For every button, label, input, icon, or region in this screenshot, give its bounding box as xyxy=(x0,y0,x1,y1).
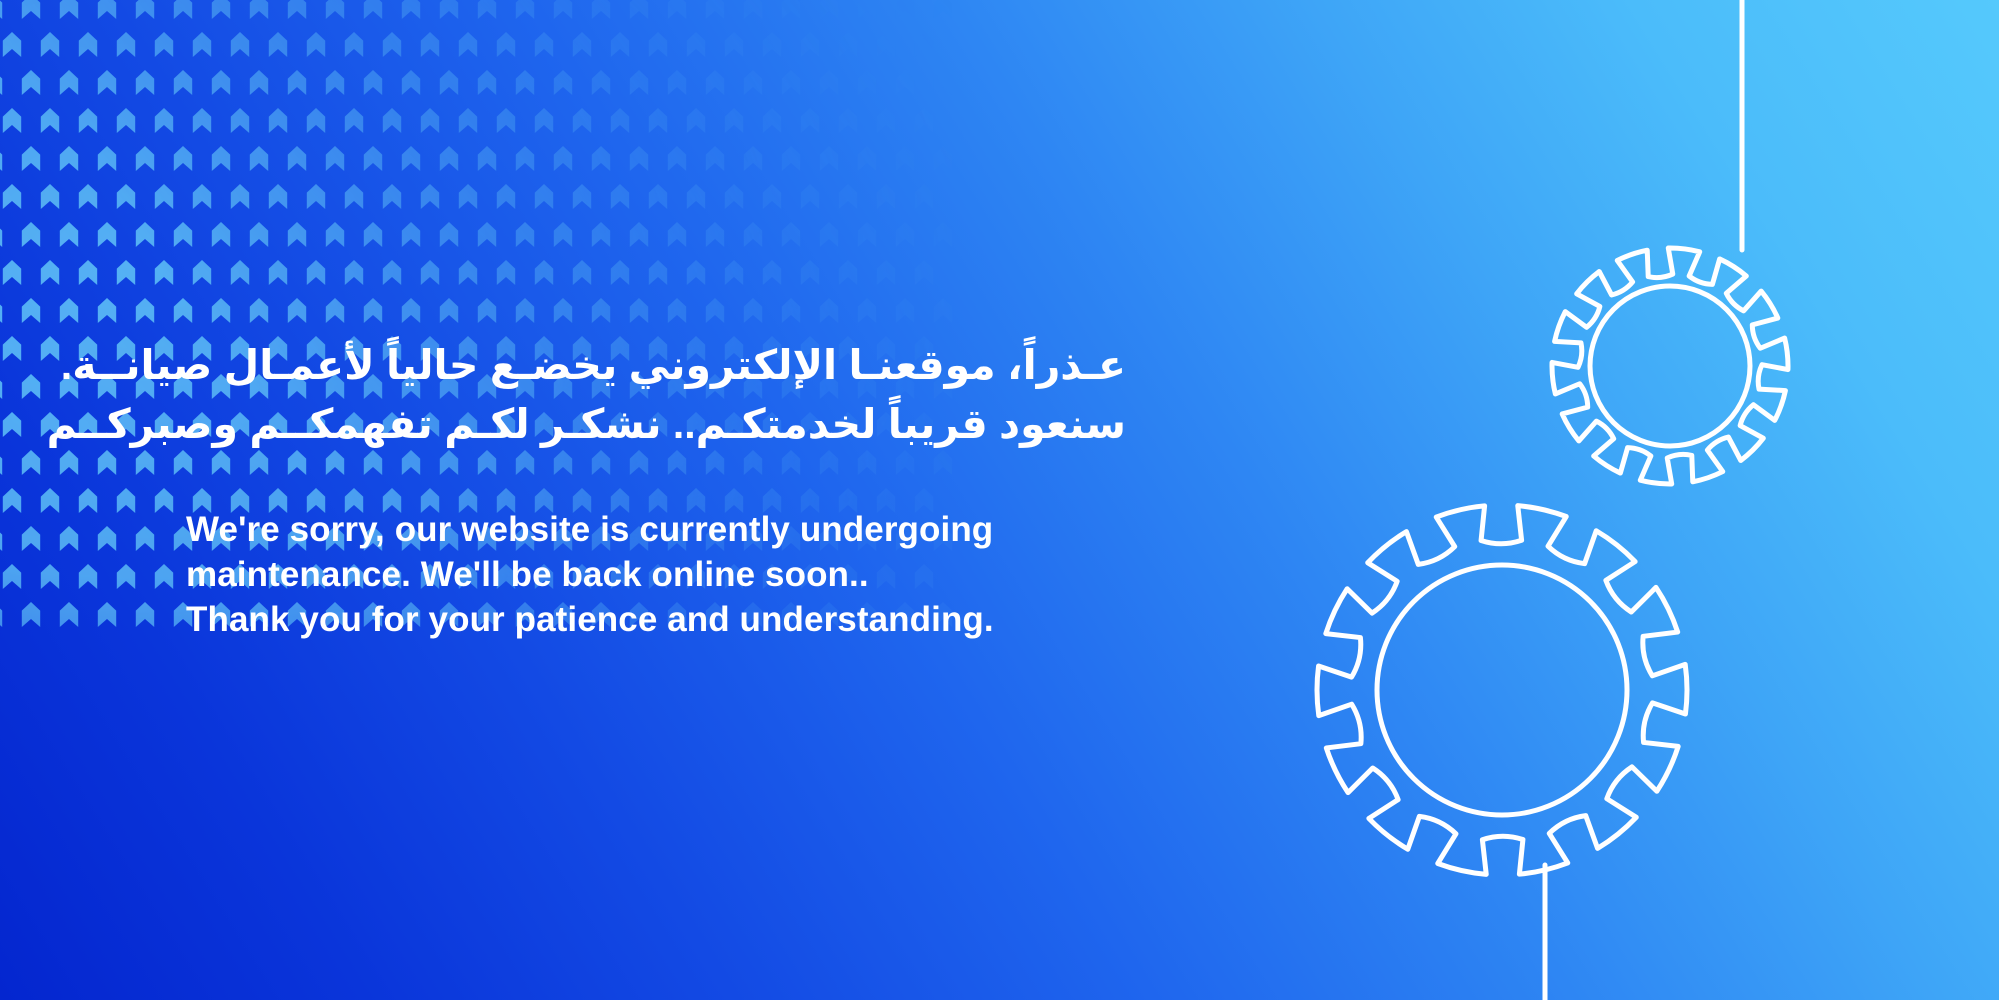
chevron-leaf-icon xyxy=(782,146,800,171)
chevron-leaf-icon xyxy=(0,298,2,323)
chevron-leaf-icon xyxy=(383,260,401,285)
chevron-leaf-icon xyxy=(288,0,306,19)
chevron-leaf-icon xyxy=(231,108,249,133)
chevron-leaf-icon xyxy=(79,108,97,133)
chevron-leaf-icon xyxy=(79,488,97,513)
chevron-leaf-icon xyxy=(155,108,173,133)
chevron-leaf-icon xyxy=(3,32,21,57)
chevron-leaf-icon xyxy=(649,32,667,57)
chevron-leaf-icon xyxy=(649,108,667,133)
chevron-leaf-icon xyxy=(763,32,781,57)
chevron-leaf-icon xyxy=(231,32,249,57)
chevron-leaf-icon xyxy=(440,146,458,171)
chevron-leaf-icon xyxy=(326,146,344,171)
chevron-leaf-icon xyxy=(79,260,97,285)
chevron-leaf-icon xyxy=(934,146,952,171)
chevron-leaf-icon xyxy=(440,70,458,95)
chevron-leaf-icon xyxy=(611,260,629,285)
chevron-leaf-icon xyxy=(60,0,78,19)
chevron-leaf-icon xyxy=(782,222,800,247)
chevron-leaf-icon xyxy=(421,32,439,57)
chevron-leaf-icon xyxy=(611,32,629,57)
chevron-leaf-icon xyxy=(155,488,173,513)
chevron-leaf-icon xyxy=(212,222,230,247)
english-line-3: Thank you for your patience and understa… xyxy=(186,598,1186,643)
chevron-leaf-icon xyxy=(896,298,914,323)
chevron-leaf-icon xyxy=(326,70,344,95)
chevron-leaf-icon xyxy=(98,298,116,323)
chevron-leaf-icon xyxy=(744,298,762,323)
chevron-leaf-icon xyxy=(535,184,553,209)
chevron-leaf-icon xyxy=(516,298,534,323)
chevron-leaf-icon xyxy=(288,222,306,247)
chevron-leaf-icon xyxy=(801,260,819,285)
chevron-leaf-icon xyxy=(573,32,591,57)
chevron-leaf-icon xyxy=(915,32,933,57)
chevron-leaf-icon xyxy=(573,184,591,209)
chevron-leaf-icon xyxy=(0,526,2,551)
chevron-leaf-icon xyxy=(269,32,287,57)
chevron-leaf-icon xyxy=(193,32,211,57)
chevron-leaf-icon xyxy=(725,32,743,57)
chevron-leaf-icon xyxy=(440,0,458,19)
chevron-leaf-icon xyxy=(364,146,382,171)
chevron-leaf-icon xyxy=(174,146,192,171)
chevron-leaf-icon xyxy=(896,222,914,247)
chevron-leaf-icon xyxy=(364,298,382,323)
chevron-leaf-icon xyxy=(611,108,629,133)
chevron-leaf-icon xyxy=(668,0,686,19)
chevron-leaf-icon xyxy=(744,70,762,95)
chevron-leaf-icon xyxy=(269,260,287,285)
chevron-leaf-icon xyxy=(60,222,78,247)
chevron-leaf-icon xyxy=(668,222,686,247)
chevron-leaf-icon xyxy=(41,32,59,57)
chevron-leaf-icon xyxy=(687,108,705,133)
chevron-leaf-icon xyxy=(117,32,135,57)
chevron-leaf-icon xyxy=(193,260,211,285)
chevron-leaf-icon xyxy=(478,146,496,171)
chevron-leaf-icon xyxy=(98,70,116,95)
chevron-leaf-icon xyxy=(858,0,876,19)
chevron-leaf-icon xyxy=(630,222,648,247)
chevron-leaf-icon xyxy=(231,184,249,209)
chevron-leaf-icon xyxy=(22,526,40,551)
chevron-leaf-icon xyxy=(725,260,743,285)
chevron-leaf-icon xyxy=(3,488,21,513)
chevron-leaf-icon xyxy=(839,108,857,133)
chevron-leaf-icon xyxy=(478,298,496,323)
chevron-leaf-icon xyxy=(516,146,534,171)
chevron-leaf-icon xyxy=(877,32,895,57)
chevron-leaf-icon xyxy=(497,108,515,133)
chevron-leaf-icon xyxy=(345,260,363,285)
chevron-leaf-icon xyxy=(136,602,154,627)
chevron-leaf-icon xyxy=(402,298,420,323)
chevron-leaf-icon xyxy=(250,298,268,323)
small-gear-hub xyxy=(1590,286,1750,446)
chevron-leaf-icon xyxy=(839,184,857,209)
chevron-leaf-icon xyxy=(98,222,116,247)
chevron-leaf-icon xyxy=(41,184,59,209)
chevron-leaf-icon xyxy=(630,0,648,19)
chevron-leaf-icon xyxy=(60,298,78,323)
chevron-leaf-icon xyxy=(687,260,705,285)
chevron-leaf-icon xyxy=(440,222,458,247)
chevron-leaf-icon xyxy=(858,146,876,171)
chevron-leaf-icon xyxy=(744,222,762,247)
chevron-leaf-icon xyxy=(706,146,724,171)
chevron-leaf-icon xyxy=(839,32,857,57)
chevron-leaf-icon xyxy=(136,298,154,323)
chevron-leaf-icon xyxy=(383,32,401,57)
chevron-leaf-icon xyxy=(383,108,401,133)
chevron-leaf-icon xyxy=(22,146,40,171)
chevron-leaf-icon xyxy=(250,222,268,247)
chevron-leaf-icon xyxy=(212,298,230,323)
chevron-leaf-icon xyxy=(98,0,116,19)
english-line-2: maintenance. We'll be back online soon.. xyxy=(186,553,1186,598)
chevron-leaf-icon xyxy=(668,146,686,171)
chevron-leaf-icon xyxy=(288,146,306,171)
chevron-leaf-icon xyxy=(763,108,781,133)
chevron-leaf-icon xyxy=(402,222,420,247)
chevron-leaf-icon xyxy=(820,222,838,247)
chevron-leaf-icon xyxy=(782,70,800,95)
chevron-leaf-icon xyxy=(117,260,135,285)
chevron-leaf-icon xyxy=(3,260,21,285)
chevron-leaf-icon xyxy=(364,0,382,19)
chevron-leaf-icon xyxy=(934,70,952,95)
chevron-leaf-icon xyxy=(421,108,439,133)
chevron-leaf-icon xyxy=(155,260,173,285)
chevron-leaf-icon xyxy=(725,108,743,133)
chevron-leaf-icon xyxy=(41,108,59,133)
chevron-leaf-icon xyxy=(41,564,59,589)
chevron-leaf-icon xyxy=(0,374,2,399)
chevron-leaf-icon xyxy=(801,108,819,133)
chevron-leaf-icon xyxy=(421,260,439,285)
chevron-leaf-icon xyxy=(782,298,800,323)
english-line-1: We're sorry, our website is currently un… xyxy=(186,508,1186,553)
chevron-leaf-icon xyxy=(3,336,21,361)
chevron-leaf-icon xyxy=(60,70,78,95)
chevron-leaf-icon xyxy=(402,70,420,95)
chevron-leaf-icon xyxy=(611,184,629,209)
chevron-leaf-icon xyxy=(592,298,610,323)
chevron-leaf-icon xyxy=(763,184,781,209)
chevron-leaf-icon xyxy=(725,184,743,209)
chevron-leaf-icon xyxy=(478,0,496,19)
chevron-leaf-icon xyxy=(22,450,40,475)
chevron-leaf-icon xyxy=(478,222,496,247)
chevron-leaf-icon xyxy=(3,184,21,209)
chevron-leaf-icon xyxy=(858,222,876,247)
chevron-leaf-icon xyxy=(459,260,477,285)
chevron-leaf-icon xyxy=(117,108,135,133)
chevron-leaf-icon xyxy=(421,184,439,209)
chevron-leaf-icon xyxy=(193,184,211,209)
chevron-leaf-icon xyxy=(117,184,135,209)
chevron-leaf-icon xyxy=(801,32,819,57)
chevron-leaf-icon xyxy=(554,222,572,247)
chevron-leaf-icon xyxy=(364,222,382,247)
chevron-leaf-icon xyxy=(22,298,40,323)
chevron-leaf-icon xyxy=(554,0,572,19)
chevron-leaf-icon xyxy=(820,146,838,171)
chevron-leaf-icon xyxy=(231,260,249,285)
chevron-leaf-icon xyxy=(136,526,154,551)
chevron-leaf-icon xyxy=(22,70,40,95)
chevron-leaf-icon xyxy=(326,222,344,247)
arabic-message: عـذراً، موقعنـا الإلكتروني يخضـع حالياً … xyxy=(186,336,1126,454)
chevron-leaf-icon xyxy=(117,488,135,513)
chevron-leaf-icon xyxy=(174,70,192,95)
chevron-leaf-icon xyxy=(858,298,876,323)
chevron-leaf-icon xyxy=(668,298,686,323)
chevron-leaf-icon xyxy=(345,184,363,209)
chevron-leaf-icon xyxy=(459,184,477,209)
chevron-leaf-icon xyxy=(877,184,895,209)
chevron-leaf-icon xyxy=(136,0,154,19)
chevron-leaf-icon xyxy=(497,184,515,209)
chevron-leaf-icon xyxy=(706,298,724,323)
large-gear-outline xyxy=(1317,506,1687,875)
chevron-leaf-icon xyxy=(402,0,420,19)
chevron-leaf-icon xyxy=(3,108,21,133)
chevron-leaf-icon xyxy=(117,564,135,589)
chevron-leaf-icon xyxy=(668,70,686,95)
chevron-leaf-icon xyxy=(22,0,40,19)
chevron-leaf-icon xyxy=(516,70,534,95)
chevron-leaf-icon xyxy=(41,260,59,285)
chevron-leaf-icon xyxy=(0,222,2,247)
chevron-leaf-icon xyxy=(212,70,230,95)
chevron-leaf-icon xyxy=(22,374,40,399)
gear-line-art xyxy=(1299,0,1999,1000)
chevron-leaf-icon xyxy=(136,70,154,95)
chevron-leaf-icon xyxy=(497,32,515,57)
chevron-leaf-icon xyxy=(41,336,59,361)
chevron-leaf-icon xyxy=(250,70,268,95)
chevron-leaf-icon xyxy=(174,222,192,247)
chevron-leaf-icon xyxy=(706,0,724,19)
chevron-leaf-icon xyxy=(820,0,838,19)
chevron-leaf-icon xyxy=(41,488,59,513)
chevron-leaf-icon xyxy=(839,260,857,285)
chevron-leaf-icon xyxy=(155,32,173,57)
chevron-leaf-icon xyxy=(535,108,553,133)
chevron-leaf-icon xyxy=(516,222,534,247)
chevron-leaf-icon xyxy=(630,70,648,95)
chevron-leaf-icon xyxy=(782,0,800,19)
chevron-leaf-icon xyxy=(136,146,154,171)
chevron-leaf-icon xyxy=(535,260,553,285)
chevron-leaf-icon xyxy=(915,260,933,285)
chevron-leaf-icon xyxy=(174,0,192,19)
chevron-leaf-icon xyxy=(193,108,211,133)
chevron-leaf-icon xyxy=(212,146,230,171)
chevron-leaf-icon xyxy=(155,184,173,209)
chevron-leaf-icon xyxy=(915,108,933,133)
chevron-leaf-icon xyxy=(630,298,648,323)
chevron-leaf-icon xyxy=(896,0,914,19)
chevron-leaf-icon xyxy=(744,146,762,171)
chevron-leaf-icon xyxy=(706,70,724,95)
chevron-leaf-icon xyxy=(497,260,515,285)
chevron-leaf-icon xyxy=(155,564,173,589)
chevron-leaf-icon xyxy=(877,108,895,133)
chevron-leaf-icon xyxy=(60,602,78,627)
chevron-leaf-icon xyxy=(288,70,306,95)
chevron-leaf-icon xyxy=(820,298,838,323)
chevron-leaf-icon xyxy=(649,184,667,209)
chevron-leaf-icon xyxy=(98,602,116,627)
chevron-leaf-icon xyxy=(554,146,572,171)
chevron-leaf-icon xyxy=(3,412,21,437)
english-message: We're sorry, our website is currently un… xyxy=(186,454,1186,642)
chevron-leaf-icon xyxy=(592,70,610,95)
chevron-leaf-icon xyxy=(573,108,591,133)
chevron-leaf-icon xyxy=(345,108,363,133)
chevron-leaf-icon xyxy=(706,222,724,247)
chevron-leaf-icon xyxy=(136,222,154,247)
chevron-leaf-icon xyxy=(307,108,325,133)
chevron-leaf-icon xyxy=(0,146,2,171)
chevron-leaf-icon xyxy=(687,184,705,209)
chevron-leaf-icon xyxy=(250,146,268,171)
chevron-leaf-icon xyxy=(858,70,876,95)
chevron-leaf-icon xyxy=(535,32,553,57)
chevron-leaf-icon xyxy=(592,222,610,247)
chevron-leaf-icon xyxy=(383,184,401,209)
chevron-leaf-icon xyxy=(915,184,933,209)
chevron-leaf-icon xyxy=(250,0,268,19)
chevron-leaf-icon xyxy=(687,32,705,57)
small-gear-outline xyxy=(1552,248,1788,484)
chevron-leaf-icon xyxy=(440,298,458,323)
chevron-leaf-icon xyxy=(554,70,572,95)
chevron-leaf-icon xyxy=(22,602,40,627)
chevron-leaf-icon xyxy=(592,0,610,19)
chevron-leaf-icon xyxy=(307,184,325,209)
chevron-leaf-icon xyxy=(345,32,363,57)
chevron-leaf-icon xyxy=(269,108,287,133)
chevron-leaf-icon xyxy=(478,70,496,95)
chevron-leaf-icon xyxy=(649,260,667,285)
chevron-leaf-icon xyxy=(326,298,344,323)
maintenance-message: عـذراً، موقعنـا الإلكتروني يخضـع حالياً … xyxy=(186,336,1186,642)
chevron-leaf-icon xyxy=(554,298,572,323)
chevron-leaf-icon xyxy=(592,146,610,171)
chevron-leaf-icon xyxy=(326,0,344,19)
chevron-leaf-icon xyxy=(79,564,97,589)
chevron-leaf-icon xyxy=(307,260,325,285)
chevron-leaf-icon xyxy=(0,70,2,95)
chevron-leaf-icon xyxy=(934,222,952,247)
maintenance-page: عـذراً، موقعنـا الإلكتروني يخضـع حالياً … xyxy=(0,0,1999,1000)
chevron-leaf-icon xyxy=(307,32,325,57)
chevron-leaf-icon xyxy=(79,32,97,57)
chevron-leaf-icon xyxy=(896,70,914,95)
chevron-leaf-icon xyxy=(630,146,648,171)
chevron-leaf-icon xyxy=(22,222,40,247)
chevron-leaf-icon xyxy=(763,260,781,285)
chevron-leaf-icon xyxy=(60,146,78,171)
chevron-leaf-icon xyxy=(98,146,116,171)
chevron-leaf-icon xyxy=(0,602,2,627)
chevron-leaf-icon xyxy=(364,70,382,95)
chevron-leaf-icon xyxy=(60,526,78,551)
chevron-leaf-icon xyxy=(744,0,762,19)
chevron-leaf-icon xyxy=(820,70,838,95)
arabic-line-1: عـذراً، موقعنـا الإلكتروني يخضـع حالياً … xyxy=(186,336,1126,395)
chevron-leaf-icon xyxy=(934,0,952,19)
chevron-leaf-icon xyxy=(212,0,230,19)
chevron-leaf-icon xyxy=(516,0,534,19)
chevron-leaf-icon xyxy=(269,184,287,209)
chevron-leaf-icon xyxy=(174,298,192,323)
chevron-leaf-icon xyxy=(79,184,97,209)
chevron-leaf-icon xyxy=(0,0,2,19)
chevron-leaf-icon xyxy=(934,298,952,323)
large-gear-hub xyxy=(1377,565,1627,815)
chevron-leaf-icon xyxy=(98,526,116,551)
chevron-leaf-icon xyxy=(402,146,420,171)
chevron-leaf-icon xyxy=(877,260,895,285)
chevron-leaf-icon xyxy=(573,260,591,285)
chevron-leaf-icon xyxy=(3,564,21,589)
arabic-line-2: سنعود قريباً لخدمتكـم.. نشكـر لكـم تفهمك… xyxy=(186,395,1126,454)
chevron-leaf-icon xyxy=(288,298,306,323)
chevron-leaf-icon xyxy=(0,450,2,475)
chevron-leaf-icon xyxy=(459,108,477,133)
chevron-leaf-icon xyxy=(896,146,914,171)
chevron-leaf-icon xyxy=(801,184,819,209)
chevron-leaf-icon xyxy=(459,32,477,57)
